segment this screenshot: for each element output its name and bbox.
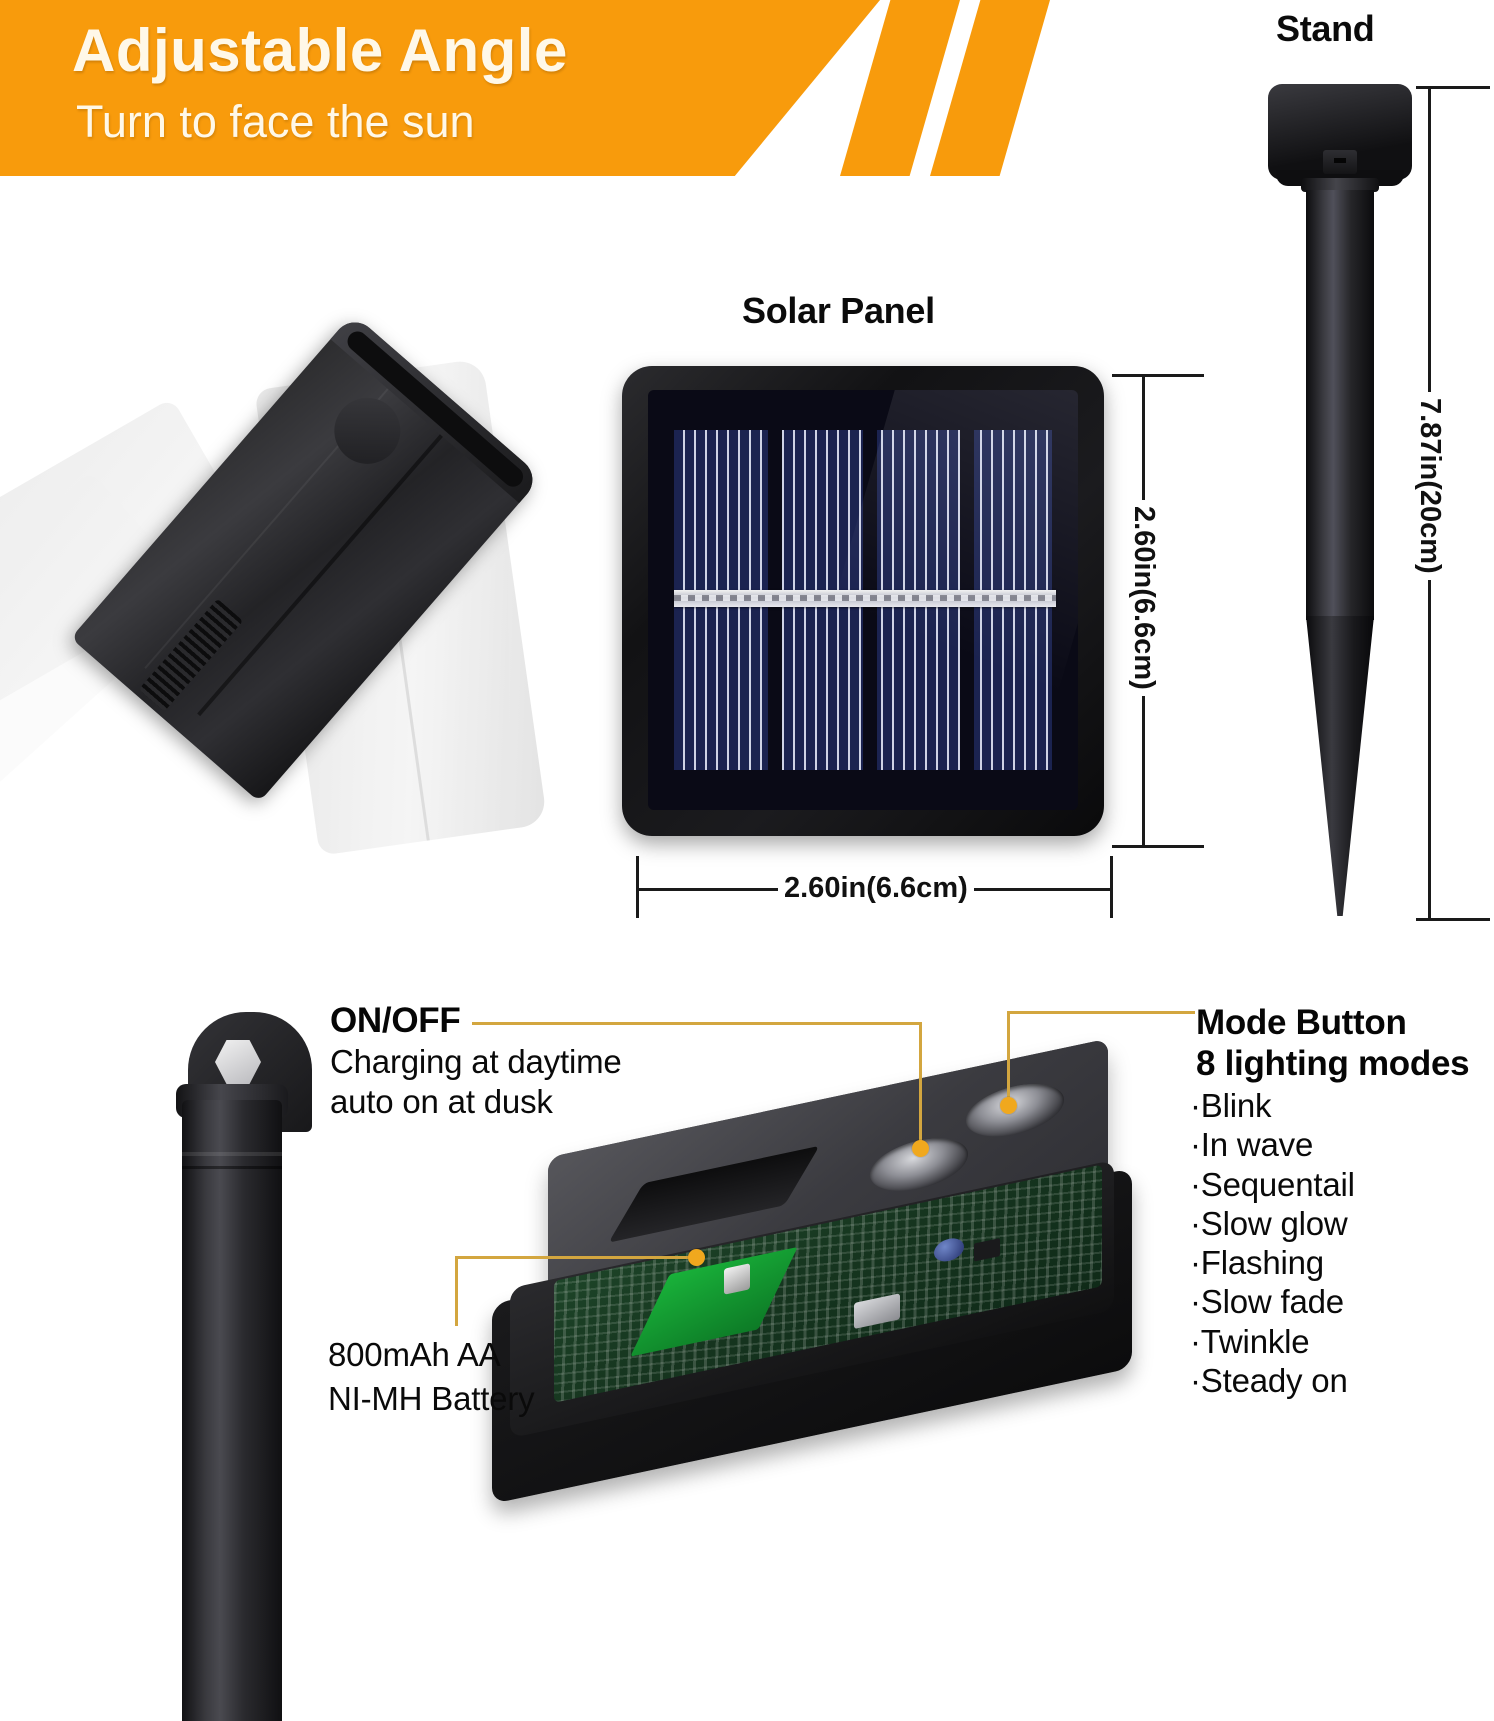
panel-width-ext-right (1110, 856, 1113, 918)
solar-panel-product-image (622, 366, 1104, 836)
stand-tube (1306, 190, 1374, 620)
pcb-green-panel (630, 1247, 797, 1357)
list-item: ·Twinkle (1190, 1322, 1355, 1361)
panel-height-dim-label: 2.60in(6.6cm) (1127, 500, 1160, 696)
list-item: ·Sequentail (1190, 1165, 1355, 1204)
connector-component (854, 1293, 900, 1329)
onoff-callout-line-horizontal (472, 1022, 922, 1025)
panel-width-dim-label: 2.60in(6.6cm) (778, 872, 974, 905)
pole-ring-lower (182, 1166, 282, 1169)
solar-panel-title: Solar Panel (742, 290, 935, 332)
list-item: ·Slow fade (1190, 1282, 1355, 1321)
mode-callout-line-horizontal (1009, 1011, 1195, 1014)
onoff-callout-dot (912, 1140, 929, 1157)
mode-callout-dot (1000, 1097, 1017, 1114)
battery-callout-dot (688, 1249, 705, 1266)
onoff-callout-title: ON/OFF (330, 1001, 460, 1041)
battery-callout-line2: NI-MH Battery (328, 1380, 534, 1419)
onoff-callout-line1: Charging at daytime (330, 1043, 622, 1082)
panel-width-ext-left (636, 856, 639, 918)
onoff-callout-line2: auto on at dusk (330, 1083, 553, 1122)
battery-callout-line1: 800mAh AA (328, 1336, 500, 1375)
stand-height-dim-label: 7.87in(20cm) (1413, 392, 1446, 580)
spotlight-pole (182, 1100, 282, 1721)
adjustable-spotlight-illustration (0, 260, 540, 1461)
banner-subtitle: Turn to face the sun (76, 96, 475, 148)
stand-title: Stand (1276, 8, 1375, 50)
mode-callout-line-vertical (1007, 1011, 1010, 1107)
capacitor-component (934, 1236, 964, 1264)
pole-ring-upper (182, 1152, 282, 1156)
list-item: ·Steady on (1190, 1361, 1355, 1400)
light-sensor-component (724, 1263, 750, 1295)
banner-title: Adjustable Angle (72, 16, 568, 85)
mode-callout-title: Mode Button (1196, 1003, 1407, 1043)
stand-connector-notch (1323, 150, 1357, 174)
list-item: ·In wave (1190, 1125, 1355, 1164)
panel-height-ext-bottom (1112, 845, 1204, 848)
list-item: ·Flashing (1190, 1243, 1355, 1282)
list-item: ·Slow glow (1190, 1204, 1355, 1243)
solar-panel-face (648, 390, 1078, 810)
battery-callout-line-horizontal (455, 1256, 700, 1259)
stand-ground-spike (1306, 616, 1374, 916)
battery-callout-line-vertical (455, 1256, 458, 1326)
ic-chip-component (974, 1238, 1000, 1262)
list-item: ·Blink (1190, 1086, 1355, 1125)
lighting-modes-list: ·Blink ·In wave ·Sequentail ·Slow glow ·… (1190, 1086, 1355, 1400)
onoff-callout-line-vertical (919, 1022, 922, 1150)
panel-height-ext-top (1112, 374, 1204, 377)
mode-callout-subtitle: 8 lighting modes (1196, 1044, 1469, 1084)
